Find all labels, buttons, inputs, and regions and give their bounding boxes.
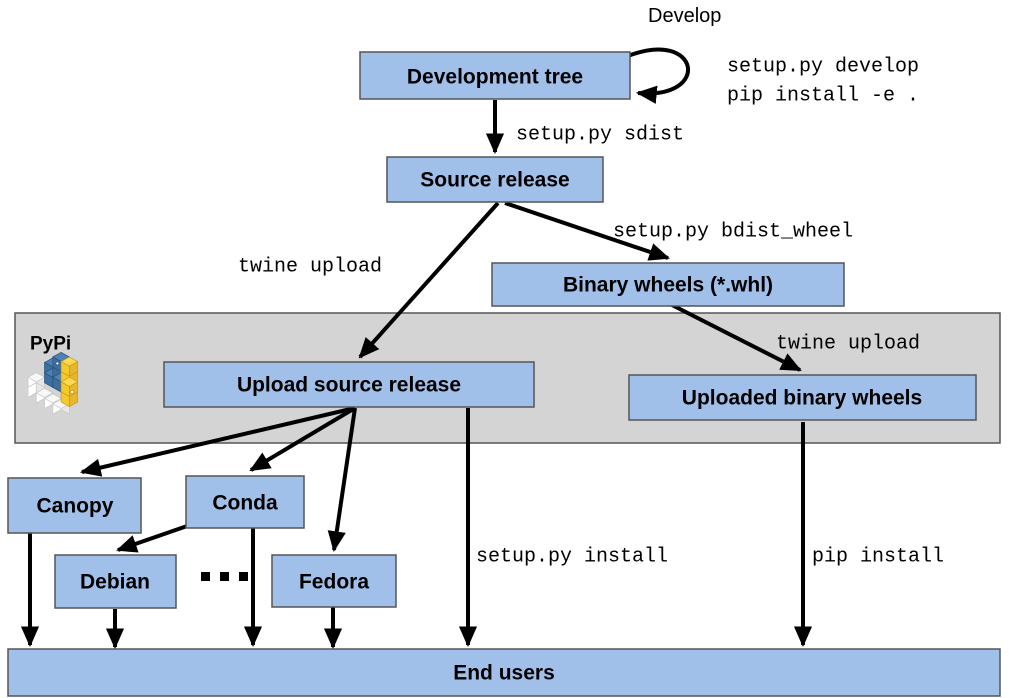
node-binary-wheels[interactable]: Binary wheels (*.whl) — [492, 263, 844, 306]
node-development-tree-label: Development tree — [407, 66, 583, 89]
edge-label-setup-py-sdist: setup.py sdist — [516, 124, 684, 147]
edge-label-twine-upload-wheels: twine upload — [776, 333, 920, 356]
ellipsis-more-distros — [201, 572, 248, 581]
node-end-users[interactable]: End users — [8, 649, 1000, 696]
node-canopy[interactable]: Canopy — [8, 478, 141, 533]
edge-label-setup-py-install: setup.py install — [476, 546, 668, 569]
node-end-users-label: End users — [453, 662, 555, 685]
node-fedora-label: Fedora — [299, 571, 369, 594]
edge-label-pip-install: pip install — [812, 546, 944, 569]
edge-label-twine-upload-source: twine upload — [238, 256, 382, 279]
packaging-flow-diagram: PyPi — [0, 0, 1009, 698]
edge-label-pip-install-editable: pip install -e . — [727, 85, 919, 108]
edge-label-setup-py-develop: setup.py develop — [727, 56, 919, 79]
node-conda[interactable]: Conda — [186, 476, 304, 528]
node-canopy-label: Canopy — [36, 495, 113, 518]
node-binary-wheels-label: Binary wheels (*.whl) — [563, 274, 773, 297]
node-development-tree[interactable]: Development tree — [360, 52, 630, 99]
pypi-group-label: PyPi — [30, 334, 71, 355]
node-source-release[interactable]: Source release — [387, 157, 603, 202]
edge-label-develop: Develop — [648, 5, 721, 27]
node-conda-label: Conda — [212, 492, 278, 515]
edge-develop-selfloop — [628, 50, 688, 94]
node-uploaded-binary-wheels[interactable]: Uploaded binary wheels — [629, 375, 976, 420]
node-uploaded-binary-wheels-label: Uploaded binary wheels — [682, 387, 922, 410]
node-fedora[interactable]: Fedora — [272, 555, 396, 607]
node-debian[interactable]: Debian — [55, 555, 176, 608]
node-source-release-label: Source release — [420, 169, 569, 192]
node-upload-source-release[interactable]: Upload source release — [164, 362, 534, 407]
edge-label-setup-py-bdist-wheel: setup.py bdist_wheel — [613, 221, 853, 244]
node-debian-label: Debian — [80, 571, 150, 594]
node-upload-source-release-label: Upload source release — [237, 374, 461, 397]
